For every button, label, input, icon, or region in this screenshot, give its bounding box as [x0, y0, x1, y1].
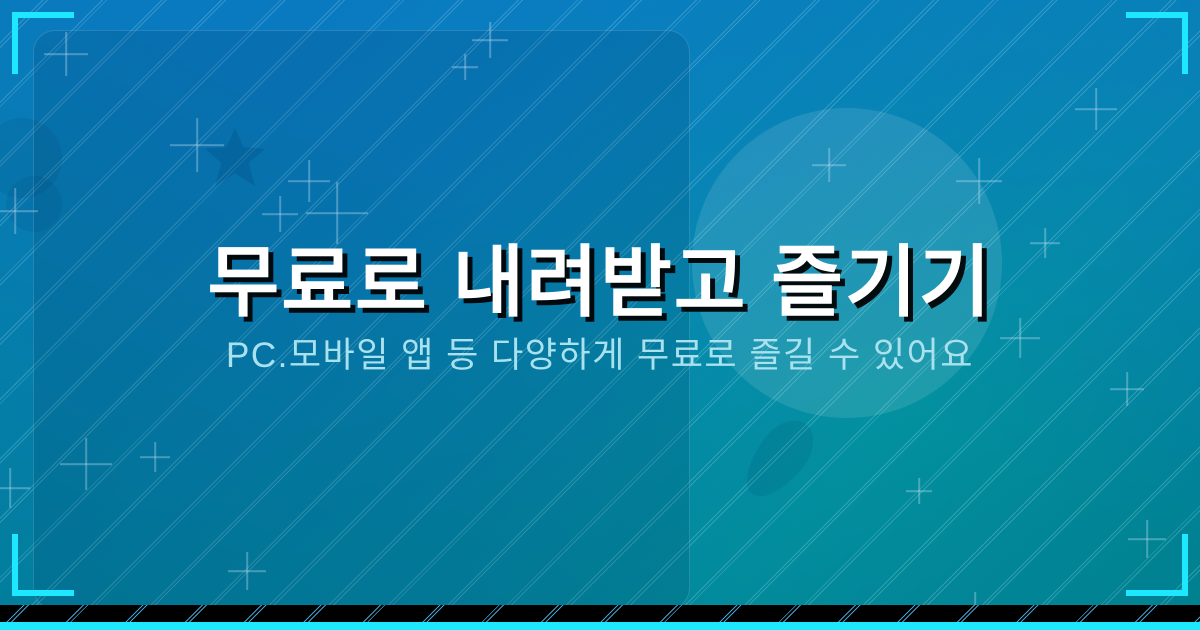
sparkle-icon: [0, 468, 30, 508]
bottom-accent-line: [0, 622, 1200, 630]
decorative-leaf-shape: [733, 410, 825, 509]
sparkle-icon: [44, 32, 88, 76]
sparkle-icon: [452, 54, 478, 80]
sparkle-icon: [262, 196, 298, 232]
corner-bracket-bottom-left: [12, 534, 74, 596]
bottom-bar-stripes: [0, 605, 1200, 622]
sparkle-icon: [956, 158, 1002, 204]
sparkle-icon: [0, 188, 38, 234]
sparkle-icon: [1128, 520, 1166, 558]
decorative-star-shape: [205, 128, 265, 186]
sparkle-icon: [288, 160, 330, 202]
promo-banner: 무료로 내려받고 즐기기 PC.모바일 앱 등 다양하게 무료로 즐길 수 있어…: [0, 0, 1200, 630]
decorative-blob-circle: [0, 118, 62, 198]
corner-bracket-top-right: [1126, 12, 1188, 74]
sparkle-icon: [812, 148, 846, 182]
sparkle-icon: [1075, 88, 1117, 130]
sparkle-icon: [906, 478, 932, 504]
sparkle-icon: [472, 22, 508, 58]
bottom-striped-bar: [0, 605, 1200, 622]
sparkle-icon: [140, 442, 170, 472]
corner-bracket-top-left: [12, 12, 74, 74]
decorative-blob-circle-small: [6, 176, 62, 232]
sparkle-icon: [170, 118, 224, 172]
corner-bracket-bottom-right: [1126, 534, 1188, 596]
sparkle-icon: [306, 182, 368, 244]
banner-subtitle: PC.모바일 앱 등 다양하게 무료로 즐길 수 있어요: [0, 335, 1200, 377]
banner-title: 무료로 내려받고 즐기기: [0, 242, 1200, 323]
sparkle-icon: [60, 438, 112, 490]
sparkle-icon: [228, 552, 266, 590]
banner-text-block: 무료로 내려받고 즐기기 PC.모바일 앱 등 다양하게 무료로 즐길 수 있어…: [0, 242, 1200, 377]
